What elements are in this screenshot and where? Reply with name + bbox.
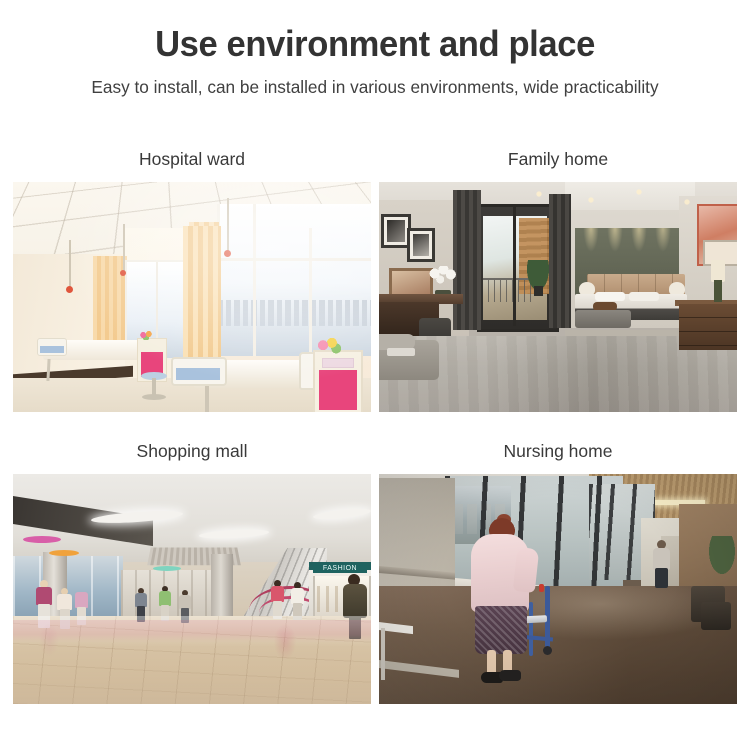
hospital-ward-photo <box>13 182 371 412</box>
hospital-bed <box>35 334 153 382</box>
mannequin-top <box>75 592 88 608</box>
shopper-torso <box>291 588 304 604</box>
window-mullion <box>253 204 256 356</box>
bed-end-bench <box>575 310 631 328</box>
caption-family-home: Family home <box>379 148 737 170</box>
caption-shopping-mall: Shopping mall <box>13 440 371 462</box>
window-transom <box>217 258 371 261</box>
door-mullion <box>513 204 516 326</box>
promo-page: Use environment and place Easy to instal… <box>0 0 750 750</box>
family-home-photo <box>379 182 737 412</box>
pillow <box>629 292 659 301</box>
skyline-view <box>217 300 371 326</box>
iv-drip <box>224 250 231 257</box>
flower-vase <box>317 338 341 354</box>
bed-rail <box>171 357 227 386</box>
storefront-sign: FASHION <box>313 564 367 573</box>
shopper-coat <box>343 584 367 618</box>
flower-vase <box>139 330 153 340</box>
grid-cell-nursing-home: Nursing home <box>379 440 737 704</box>
bed-legs <box>205 386 317 412</box>
bed-rail <box>37 338 67 356</box>
neon-ring-light <box>49 550 79 556</box>
hospital-bed <box>171 352 321 412</box>
shopping-mall-photo: FASHION <box>13 474 371 704</box>
dresser-drawer-lines <box>679 304 737 350</box>
shopper-torso <box>179 595 191 609</box>
grid-cell-shopping-mall: Shopping mall <box>13 440 371 704</box>
curtain-right <box>183 226 221 366</box>
framed-picture <box>407 228 435 262</box>
iv-pole-line <box>123 224 125 272</box>
mannequin-top <box>36 587 52 605</box>
curtain-right <box>549 194 571 328</box>
iv-drip <box>66 286 73 293</box>
environment-grid: Hospital ward <box>13 148 737 704</box>
iv-pole-line <box>227 198 229 252</box>
curtain-left <box>453 190 481 330</box>
stool-base <box>142 394 166 400</box>
neon-ring-light <box>153 566 181 571</box>
floor-reflections <box>13 620 371 690</box>
bedside-cabinet <box>313 350 363 412</box>
nursing-home-photo <box>379 474 737 704</box>
iv-drip <box>120 270 126 276</box>
plant-pot <box>534 286 543 296</box>
neon-ring-light <box>23 536 61 543</box>
grid-row: Shopping mall <box>13 440 737 704</box>
shopper-torso <box>159 591 171 606</box>
caption-hospital-ward: Hospital ward <box>13 148 371 170</box>
page-subtitle: Easy to install, can be installed in var… <box>6 75 745 99</box>
sofa-cushion <box>387 348 415 356</box>
bed-legs <box>46 359 149 381</box>
mannequin-top <box>57 594 72 610</box>
grid-cell-family-home: Family home <box>379 148 737 412</box>
shopper-torso <box>135 593 147 607</box>
grid-cell-hospital-ward: Hospital ward <box>13 148 371 412</box>
iv-pole-line <box>69 240 71 288</box>
caption-nursing-home: Nursing home <box>379 440 737 462</box>
table-lamp-shade <box>711 260 725 282</box>
page-header: Use environment and place Easy to instal… <box>0 0 750 99</box>
photo-vignette <box>379 474 737 704</box>
pillow <box>595 292 625 301</box>
grid-row: Hospital ward <box>13 148 737 412</box>
table-lamp-base <box>714 280 722 302</box>
shopper-torso <box>271 586 284 602</box>
page-title: Use environment and place <box>15 22 735 66</box>
ceiling-downlights <box>519 184 719 214</box>
window-corner <box>217 204 371 356</box>
window-mullion <box>309 228 312 356</box>
column <box>211 554 233 620</box>
